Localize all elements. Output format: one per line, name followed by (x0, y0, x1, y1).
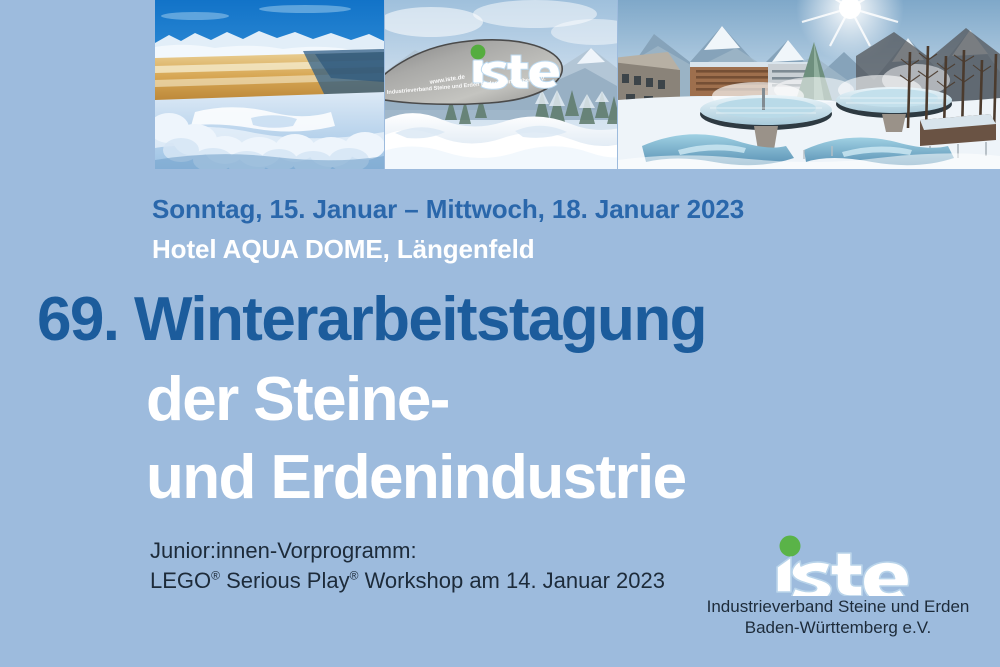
winter-quarry-photo (155, 0, 384, 169)
junior-program-note: Junior:innen-Vorprogramm: LEGO® Serious … (150, 536, 665, 596)
iste-wordmark-icon (763, 534, 913, 596)
workshop-date-label: Workshop am 14. Januar 2023 (358, 568, 665, 593)
iste-green-dot-icon (780, 536, 801, 557)
aqua-dome-spa-photo (618, 0, 1000, 169)
iste-snow-sign-photo: www.iste.de Industrieverband Steine und … (385, 0, 617, 169)
junior-program-note-line-2: LEGO® Serious Play® Workshop am 14. Janu… (150, 566, 665, 596)
junior-program-note-line-1: Junior:innen-Vorprogramm: (150, 536, 665, 566)
page-title-line-2: der Steine- (146, 369, 449, 431)
page-title-line-3: und Erdenindustrie (146, 447, 686, 509)
photo-strip: www.iste.de Industrieverband Steine und … (0, 0, 1000, 169)
registered-mark-1: ® (211, 569, 220, 583)
event-poster: www.iste.de Industrieverband Steine und … (0, 0, 1000, 667)
iste-logo-caption-line-2: Baden-Württemberg e.V. (697, 617, 979, 638)
event-date-line: Sonntag, 15. Januar – Mittwoch, 18. Janu… (152, 194, 744, 225)
page-title-line-1: 69. Winterarbeitstagung (37, 289, 706, 351)
iste-logo-mark (697, 534, 979, 596)
serious-play-label: Serious Play (220, 568, 350, 593)
iste-logo-caption-line-1: Industrieverband Steine und Erden (697, 596, 979, 617)
event-venue-line: Hotel AQUA DOME, Längenfeld (152, 234, 535, 265)
iste-logo-block: Industrieverband Steine und Erden Baden-… (697, 534, 979, 638)
lego-label: LEGO (150, 568, 211, 593)
